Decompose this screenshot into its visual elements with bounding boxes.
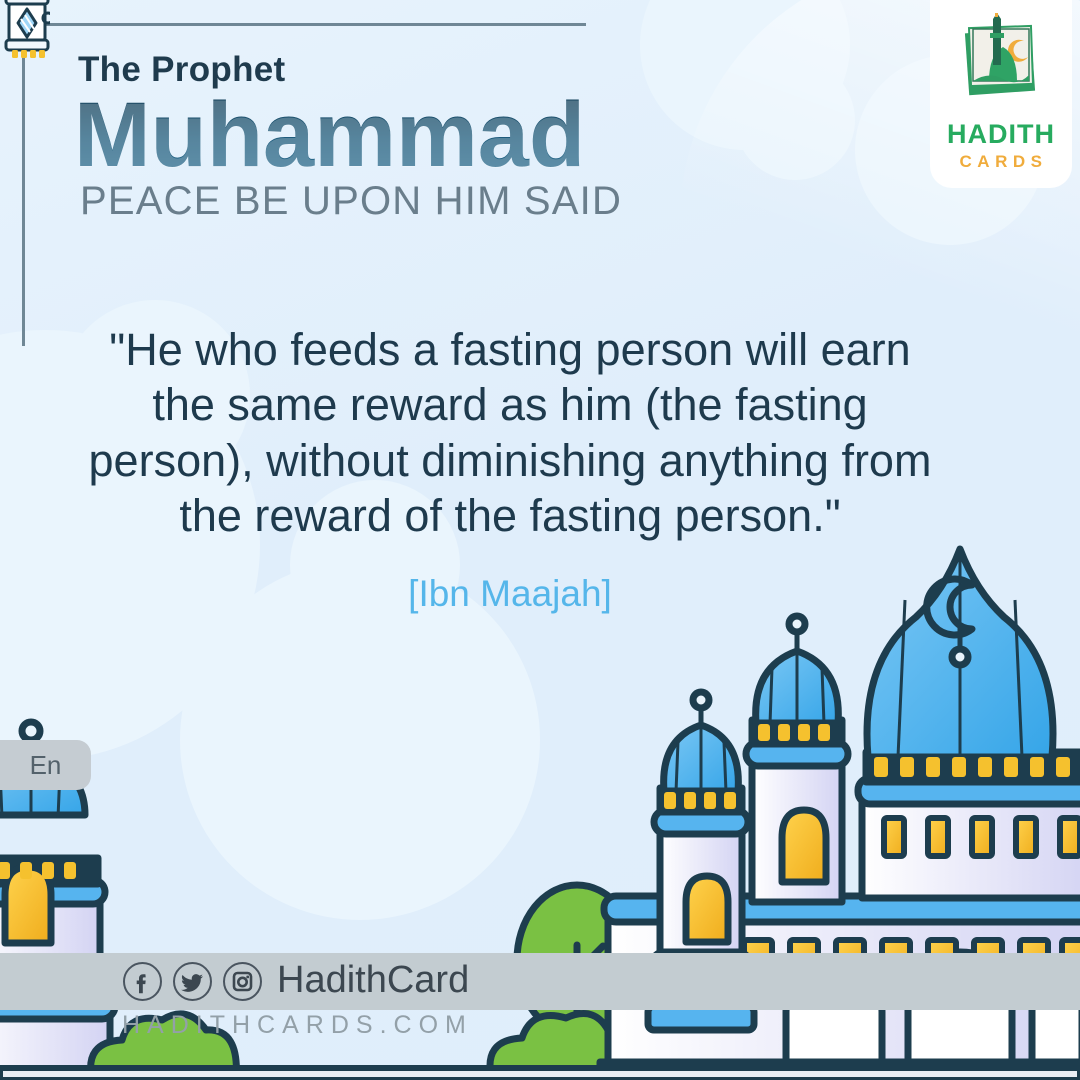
language-badge[interactable]: En [0,740,91,790]
header-horizontal-rule [40,23,586,26]
eyebrow-text: The Prophet [78,52,622,87]
title-block: The Prophet Muhammad PEACE BE UPON HIM S… [78,52,622,221]
quote-line: "He who feeds a fasting person will earn [60,322,960,377]
logo-subtitle: CARDS [955,153,1048,170]
logo-title: HADITH [947,121,1055,148]
footer-url: HADITHCARDS.COM [122,1011,473,1040]
footer-brand: HadithCard [277,960,469,1002]
hadith-quote: "He who feeds a fasting person will earn… [60,322,960,543]
twitter-icon[interactable] [172,961,213,1002]
mosque-photo-icon [949,13,1053,117]
lantern-icon [4,0,50,62]
title-subtitle: PEACE BE UPON HIM SAID [80,181,622,221]
brand-logo[interactable]: HADITH CARDS [930,0,1072,188]
language-badge-label: En [30,750,62,781]
social-links [122,961,263,1002]
quote-line: the reward of the fasting person." [60,488,960,543]
page-title: Muhammad [74,89,622,183]
facebook-icon[interactable] [122,961,163,1002]
hadith-card: The Prophet Muhammad PEACE BE UPON HIM S… [0,0,1080,1080]
header-vertical-rule [22,48,25,346]
quote-line: the same reward as him (the fasting [60,377,960,432]
hadith-source: [Ibn Maajah] [60,572,960,616]
quote-line: person), without diminishing anything fr… [60,433,960,488]
instagram-icon[interactable] [222,961,263,1002]
